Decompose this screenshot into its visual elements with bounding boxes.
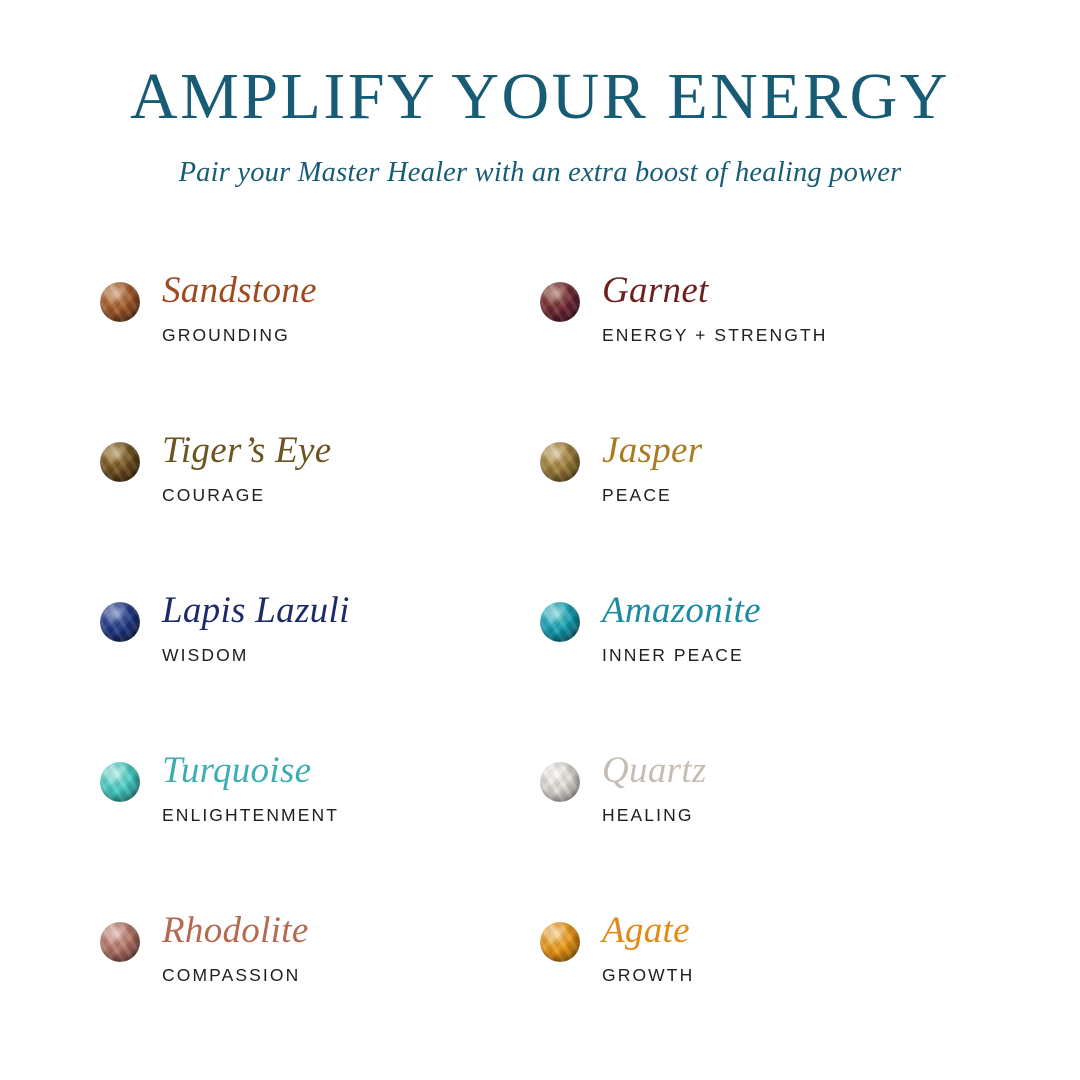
stone-item-quartz[interactable]: QuartzHEALING [540,752,980,912]
gemstone-bead-icon [540,602,580,642]
stone-caption: COURAGE [162,485,331,506]
bead-shadow [100,442,140,482]
gemstone-bead-icon [540,922,580,962]
stone-item-garnet[interactable]: GarnetENERGY + STRENGTH [540,272,980,432]
stone-text: TurquoiseENLIGHTENMENT [140,752,339,826]
page-title: AMPLIFY YOUR ENERGY [0,0,1080,131]
page-header: AMPLIFY YOUR ENERGY Pair your Master Hea… [0,0,1080,189]
stone-caption: WISDOM [162,645,350,666]
stone-row-inner: Tiger’s EyeCOURAGE [100,432,540,506]
stone-row-inner: RhodoliteCOMPASSION [100,912,540,986]
stone-caption: COMPASSION [162,965,309,986]
stone-caption: ENLIGHTENMENT [162,805,339,826]
stone-row-inner: Lapis LazuliWISDOM [100,592,540,666]
bead-shadow [540,602,580,642]
bead-shadow [540,442,580,482]
stone-item-amazonite[interactable]: AmazoniteINNER PEACE [540,592,980,752]
gemstone-bead-icon [100,922,140,962]
stone-caption: HEALING [602,805,707,826]
stone-item-jasper[interactable]: JasperPEACE [540,432,980,592]
stone-name: Sandstone [162,272,317,309]
bead-shadow [540,762,580,802]
stone-item-agate[interactable]: AgateGROWTH [540,912,980,1072]
stone-name: Garnet [602,272,827,309]
stone-row-inner: TurquoiseENLIGHTENMENT [100,752,540,826]
bead-shadow [100,762,140,802]
stone-item-tiger-s-eye[interactable]: Tiger’s EyeCOURAGE [100,432,540,592]
stone-name: Jasper [602,432,702,469]
stone-text: Tiger’s EyeCOURAGE [140,432,331,506]
stone-text: JasperPEACE [580,432,702,506]
gemstone-bead-icon [540,282,580,322]
stone-caption: ENERGY + STRENGTH [602,325,827,346]
gemstone-bead-icon [540,762,580,802]
gemstone-bead-icon [100,762,140,802]
stone-list: SandstoneGROUNDINGGarnetENERGY + STRENGT… [0,272,1080,1072]
stone-item-rhodolite[interactable]: RhodoliteCOMPASSION [100,912,540,1072]
stone-row-inner: AgateGROWTH [540,912,980,986]
stone-caption: GROUNDING [162,325,317,346]
stone-name: Turquoise [162,752,339,789]
bead-shadow [540,282,580,322]
gemstone-bead-icon [100,602,140,642]
stone-row-inner: GarnetENERGY + STRENGTH [540,272,980,346]
stone-text: QuartzHEALING [580,752,707,826]
page-subtitle: Pair your Master Healer with an extra bo… [0,131,1080,189]
stone-caption: INNER PEACE [602,645,761,666]
stone-text: Lapis LazuliWISDOM [140,592,350,666]
promo-page: AMPLIFY YOUR ENERGY Pair your Master Hea… [0,0,1080,1080]
gemstone-bead-icon [100,442,140,482]
bead-shadow [100,922,140,962]
bead-shadow [100,602,140,642]
stone-row-inner: QuartzHEALING [540,752,980,826]
stone-text: RhodoliteCOMPASSION [140,912,309,986]
stone-name: Rhodolite [162,912,309,949]
stone-text: GarnetENERGY + STRENGTH [580,272,827,346]
stone-row-inner: JasperPEACE [540,432,980,506]
stone-row-inner: AmazoniteINNER PEACE [540,592,980,666]
stone-caption: GROWTH [602,965,694,986]
stone-name: Quartz [602,752,707,789]
stone-item-lapis-lazuli[interactable]: Lapis LazuliWISDOM [100,592,540,752]
stone-name: Lapis Lazuli [162,592,350,629]
stone-text: AmazoniteINNER PEACE [580,592,761,666]
gemstone-bead-icon [100,282,140,322]
stone-item-turquoise[interactable]: TurquoiseENLIGHTENMENT [100,752,540,912]
stone-text: SandstoneGROUNDING [140,272,317,346]
stone-text: AgateGROWTH [580,912,694,986]
stone-name: Tiger’s Eye [162,432,331,469]
bead-shadow [100,282,140,322]
stone-item-sandstone[interactable]: SandstoneGROUNDING [100,272,540,432]
bead-shadow [540,922,580,962]
stone-caption: PEACE [602,485,702,506]
stone-name: Amazonite [602,592,761,629]
gemstone-bead-icon [540,442,580,482]
stone-row-inner: SandstoneGROUNDING [100,272,540,346]
stone-name: Agate [602,912,694,949]
